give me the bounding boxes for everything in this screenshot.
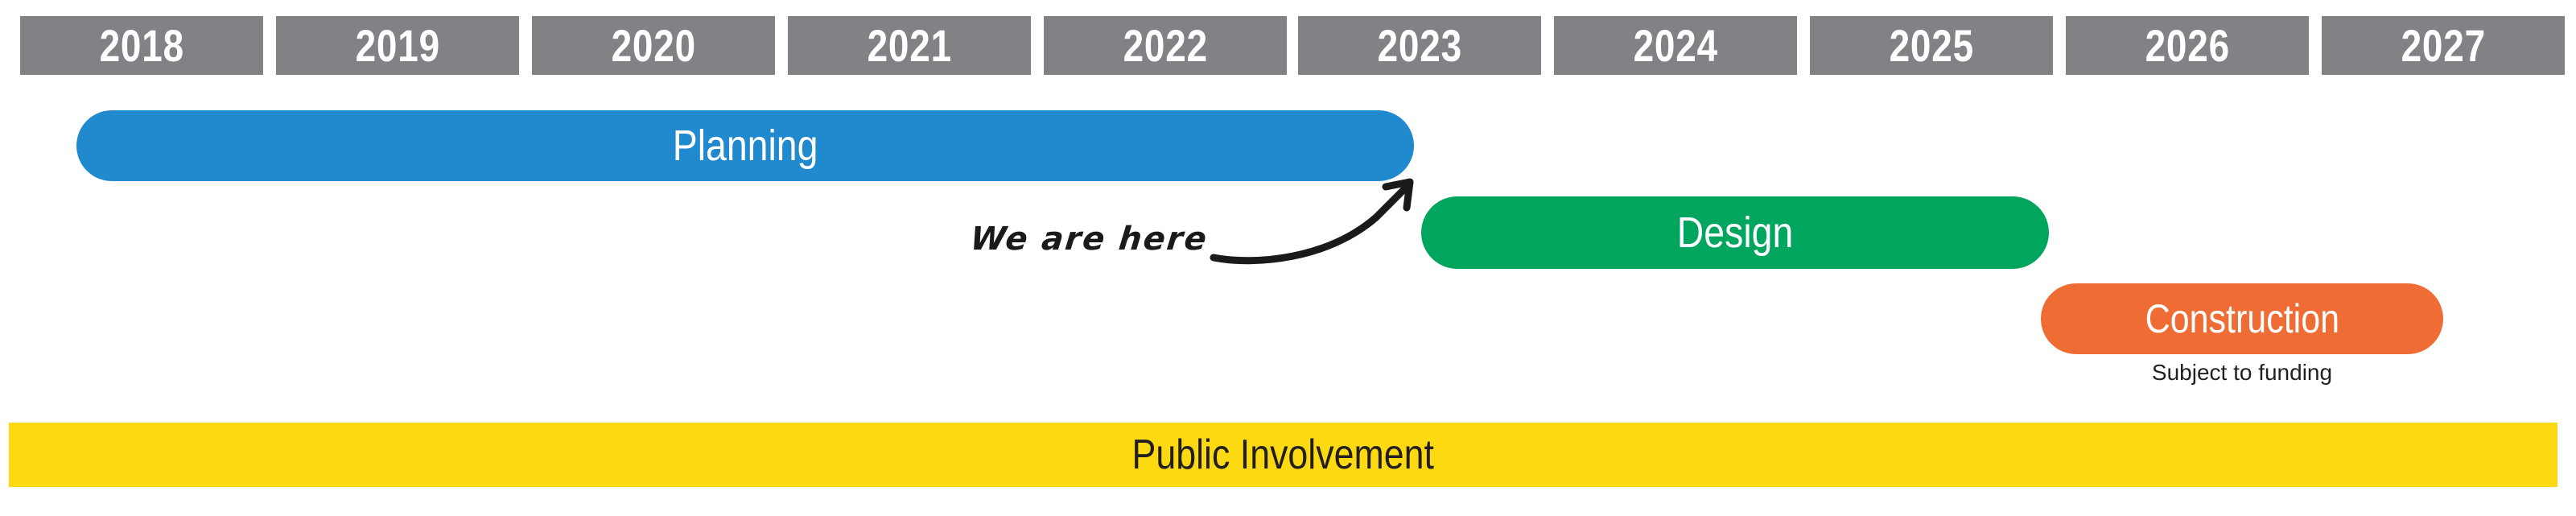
- phase-bar-planning: Planning: [76, 110, 1414, 181]
- year-axis: 2018 2019 2020 2021 2022 2023 2024 2025 …: [0, 0, 2576, 80]
- phase-bar-design: Design: [1421, 196, 2049, 269]
- year-cell-2027: 2027: [2322, 16, 2565, 75]
- year-label: 2025: [1889, 23, 1973, 68]
- year-cell-2018: 2018: [20, 16, 263, 75]
- year-cell-2019: 2019: [276, 16, 519, 75]
- we-are-here-annotation-text: We are here: [969, 223, 1210, 255]
- phase-label-construction: Construction: [2145, 299, 2339, 339]
- project-timeline: 2018 2019 2020 2021 2022 2023 2024 2025 …: [0, 0, 2576, 516]
- year-label: 2022: [1123, 23, 1207, 68]
- phase-label-planning: Planning: [673, 124, 818, 167]
- year-cell-2025: 2025: [1810, 16, 2053, 75]
- phase-label-public-involvement: Public Involvement: [1132, 434, 1434, 476]
- phase-label-design: Design: [1677, 211, 1794, 254]
- phase-bar-public-involvement: Public Involvement: [9, 423, 2557, 487]
- year-label: 2023: [1377, 23, 1461, 68]
- year-cell-2022: 2022: [1044, 16, 1287, 75]
- year-cell-2021: 2021: [788, 16, 1031, 75]
- year-cell-2020: 2020: [532, 16, 775, 75]
- year-label: 2018: [99, 23, 183, 68]
- year-label: 2026: [2145, 23, 2229, 68]
- year-cell-2026: 2026: [2066, 16, 2309, 75]
- curved-arrow-icon: [1207, 175, 1440, 272]
- year-label: 2027: [2401, 23, 2485, 68]
- year-cell-2024: 2024: [1554, 16, 1797, 75]
- year-cell-2023: 2023: [1298, 16, 1541, 75]
- year-label: 2024: [1633, 23, 1717, 68]
- year-label: 2020: [611, 23, 695, 68]
- year-label: 2019: [355, 23, 439, 68]
- phase-bar-construction: Construction: [2041, 283, 2443, 354]
- construction-funding-note: Subject to funding: [2041, 361, 2443, 386]
- year-label: 2021: [867, 23, 951, 68]
